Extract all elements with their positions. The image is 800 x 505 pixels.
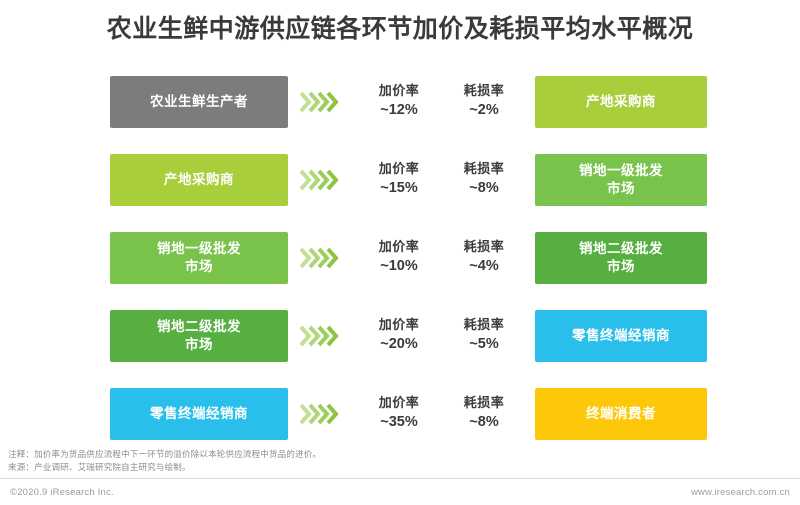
footnote-source: 来源：产业调研、艾瑞研究院自主研究与绘制。 [8,461,688,474]
markup-rate-value: ~35% [380,413,418,433]
markup-rate-value: ~10% [380,257,418,277]
markup-rate-label: 加价率 [379,83,420,99]
supply-chain-flow: 农业生鲜生产者加价率~12%耗损率~2%产地采购商产地采购商加价率~15%耗损率… [0,66,800,442]
infographic-slide: 农业生鲜中游供应链各环节加价及耗损平均水平概况 农业生鲜生产者加价率~12%耗损… [0,0,800,505]
chevron-arrow-right-icon [296,310,350,362]
chevron-arrow-right-icon [296,232,350,284]
stage-node-from[interactable]: 农业生鲜生产者 [110,76,288,128]
loss-rate-value: ~5% [469,335,498,355]
loss-rate-metric: 耗损率~2% [440,76,528,128]
markup-rate-metric: 加价率~15% [355,154,443,206]
loss-rate-value: ~8% [469,179,498,199]
website-link[interactable]: www.iresearch.com.cn [691,487,790,498]
stage-node-from[interactable]: 零售终端经销商 [110,388,288,440]
flow-row: 销地二级批发市场加价率~20%耗损率~5%零售终端经销商 [0,310,800,362]
markup-rate-metric: 加价率~12% [355,76,443,128]
markup-rate-value: ~15% [380,179,418,199]
markup-rate-label: 加价率 [379,161,420,177]
markup-rate-value: ~12% [380,101,418,121]
markup-rate-label: 加价率 [379,317,420,333]
loss-rate-value: ~4% [469,257,498,277]
title-bar: 农业生鲜中游供应链各环节加价及耗损平均水平概况 [0,6,800,52]
markup-rate-metric: 加价率~35% [355,388,443,440]
stage-node-to[interactable]: 终端消费者 [535,388,707,440]
markup-rate-metric: 加价率~10% [355,232,443,284]
footnotes: 注释：加价率为货品供应流程中下一环节的溢价除以本轮供应流程中货品的进价。 来源：… [8,448,688,474]
loss-rate-metric: 耗损率~5% [440,310,528,362]
loss-rate-label: 耗损率 [464,161,505,177]
flow-row: 销地一级批发市场加价率~10%耗损率~4%销地二级批发市场 [0,232,800,284]
markup-rate-label: 加价率 [379,239,420,255]
loss-rate-metric: 耗损率~8% [440,154,528,206]
loss-rate-label: 耗损率 [464,239,505,255]
footnote-note: 注释：加价率为货品供应流程中下一环节的溢价除以本轮供应流程中货品的进价。 [8,448,688,461]
markup-rate-metric: 加价率~20% [355,310,443,362]
markup-rate-value: ~20% [380,335,418,355]
loss-rate-label: 耗损率 [464,317,505,333]
loss-rate-metric: 耗损率~8% [440,388,528,440]
stage-node-from[interactable]: 销地二级批发市场 [110,310,288,362]
page-title: 农业生鲜中游供应链各环节加价及耗损平均水平概况 [107,17,694,42]
copyright-text: ©2020.9 iResearch Inc. [10,487,114,498]
markup-rate-label: 加价率 [379,395,420,411]
stage-node-to[interactable]: 销地二级批发市场 [535,232,707,284]
stage-node-to[interactable]: 产地采购商 [535,76,707,128]
stage-node-to[interactable]: 销地一级批发市场 [535,154,707,206]
loss-rate-value: ~8% [469,413,498,433]
chevron-arrow-right-icon [296,388,350,440]
chevron-arrow-right-icon [296,76,350,128]
stage-node-from[interactable]: 销地一级批发市场 [110,232,288,284]
loss-rate-label: 耗损率 [464,83,505,99]
stage-node-to[interactable]: 零售终端经销商 [535,310,707,362]
loss-rate-metric: 耗损率~4% [440,232,528,284]
footer-bar: ©2020.9 iResearch Inc. www.iresearch.com… [0,479,800,505]
flow-row: 产地采购商加价率~15%耗损率~8%销地一级批发市场 [0,154,800,206]
flow-row: 农业生鲜生产者加价率~12%耗损率~2%产地采购商 [0,76,800,128]
stage-node-from[interactable]: 产地采购商 [110,154,288,206]
loss-rate-value: ~2% [469,101,498,121]
flow-row: 零售终端经销商加价率~35%耗损率~8%终端消费者 [0,388,800,440]
chevron-arrow-right-icon [296,154,350,206]
loss-rate-label: 耗损率 [464,395,505,411]
